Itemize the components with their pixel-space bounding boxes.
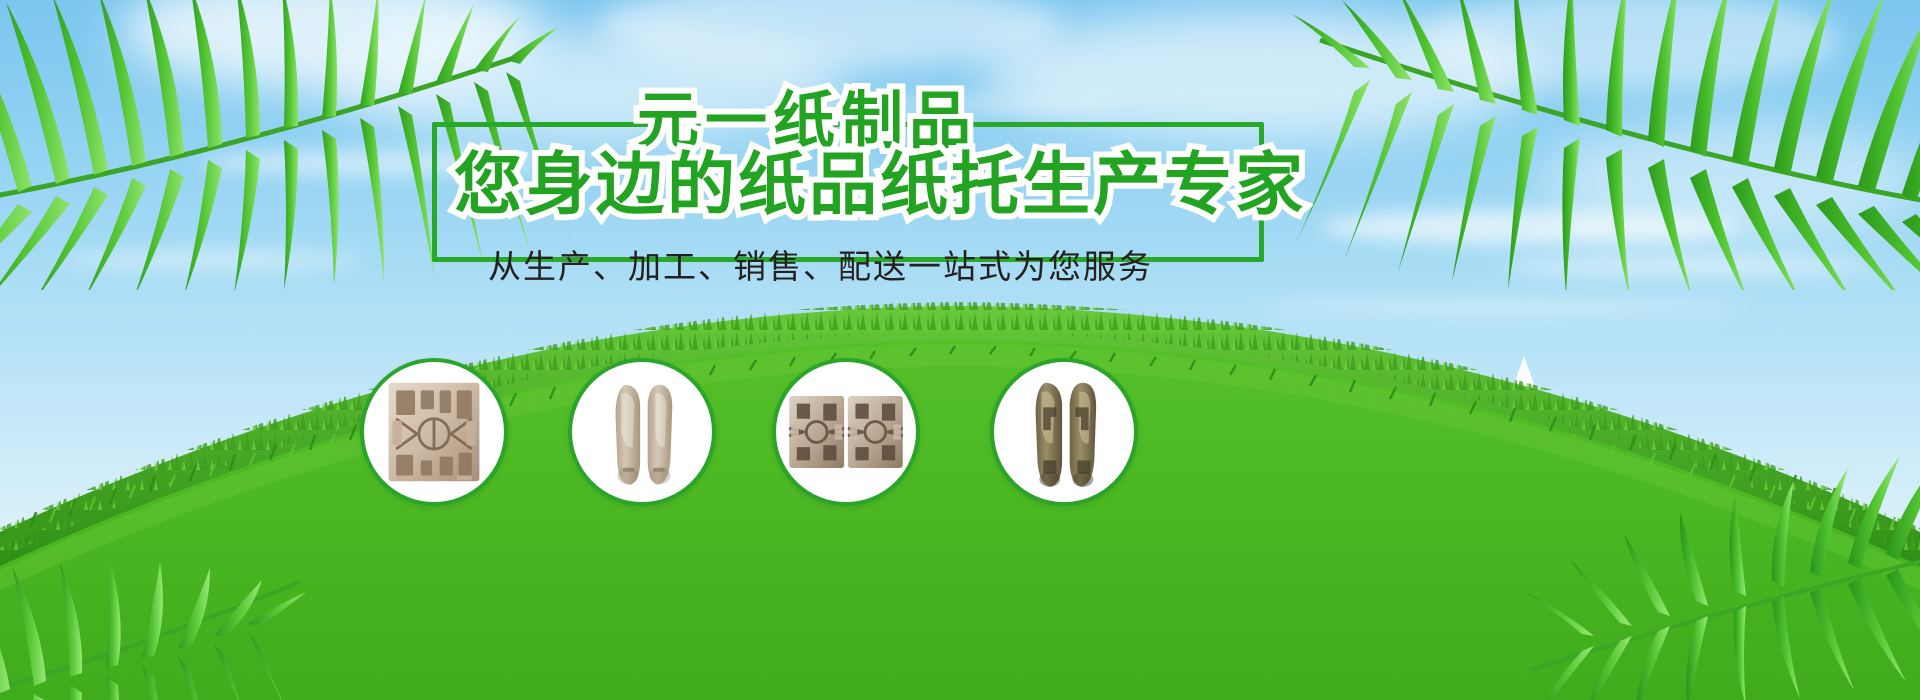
product-circle-1[interactable] xyxy=(360,358,508,506)
palm-frond-icon xyxy=(0,520,340,700)
paper-pulp-shoe-tree-light-icon xyxy=(572,362,712,502)
palm-frond-icon xyxy=(1480,420,1920,700)
brand-title: 元一纸制品 xyxy=(637,90,977,152)
paper-pulp-shoe-tree-dark-icon xyxy=(994,362,1134,502)
promo-banner: 元一纸制品 您身边的纸品纸托生产专家 从生产、加工、销售、配送一站式为您服务 xyxy=(0,0,1920,700)
paper-pulp-double-tray-icon xyxy=(776,362,916,502)
subtitle: 从生产、加工、销售、配送一站式为您服务 xyxy=(488,240,1408,288)
product-circle-4[interactable] xyxy=(990,358,1138,506)
product-circle-2[interactable] xyxy=(568,358,716,506)
tagline: 您身边的纸品纸托生产专家 xyxy=(454,152,1306,220)
product-circle-3[interactable] xyxy=(772,358,920,506)
paper-pulp-square-tray-icon xyxy=(364,362,504,502)
